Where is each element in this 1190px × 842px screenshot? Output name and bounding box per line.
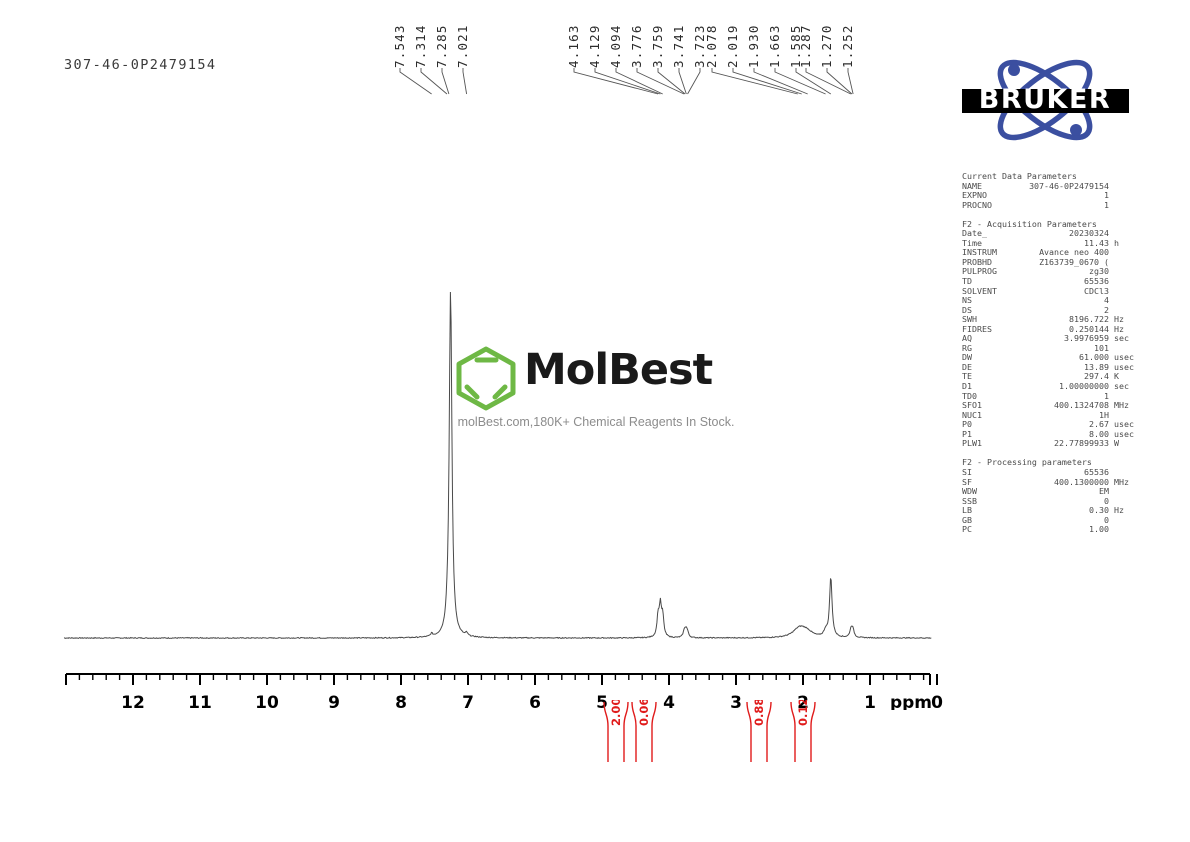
integral-curve bbox=[767, 702, 771, 762]
integral-value: 0.880 bbox=[752, 700, 766, 726]
integral-value: 2.000 bbox=[609, 700, 623, 726]
integral-curve bbox=[632, 702, 636, 762]
integral-curve bbox=[652, 702, 656, 762]
integral-curve bbox=[747, 702, 751, 762]
nmr-spectrum-page: 307-46-0P2479154 7.5437.3147.2857.0214.1… bbox=[0, 0, 1190, 842]
spectrum-trace bbox=[0, 0, 1190, 660]
integral-curves: 2.0000.0600.8800.126 bbox=[0, 700, 1190, 790]
integral-value: 0.126 bbox=[796, 700, 810, 726]
integral-curve bbox=[811, 702, 815, 762]
integral-curve bbox=[604, 702, 608, 762]
integral-curve bbox=[791, 702, 795, 762]
integral-value: 0.060 bbox=[637, 700, 651, 726]
integral-curve bbox=[624, 702, 628, 762]
